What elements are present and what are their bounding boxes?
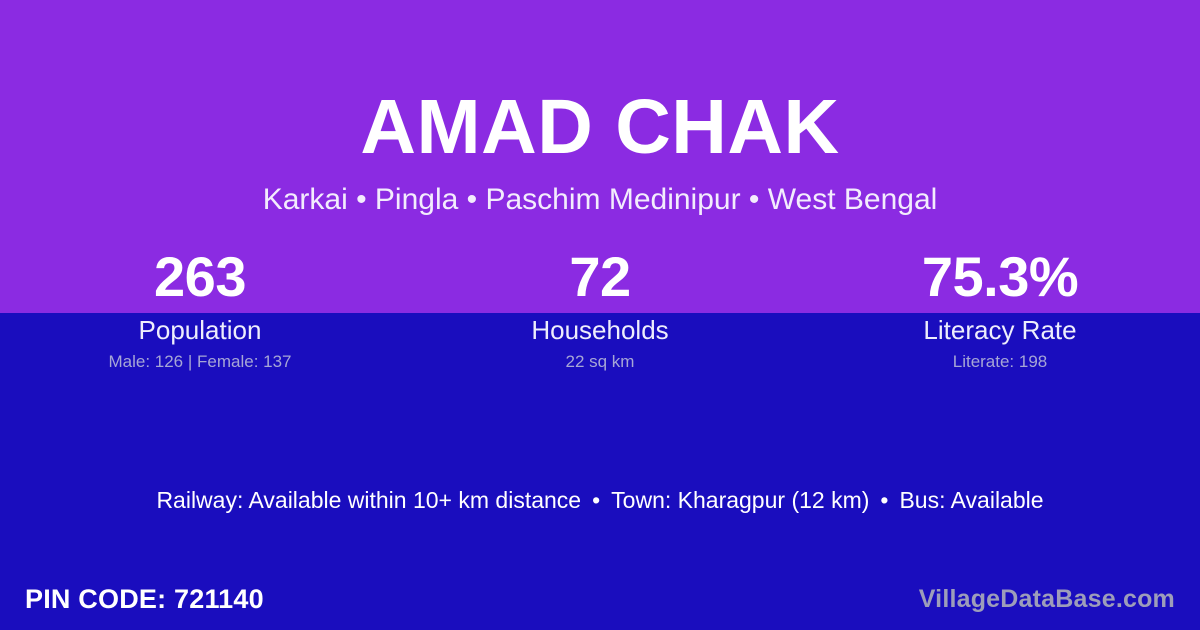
railway-info: Railway: Available within 10+ km distanc… xyxy=(156,487,581,513)
population-label: Population xyxy=(0,315,400,345)
village-info-card: AMAD CHAK Karkai • Pingla • Paschim Medi… xyxy=(0,0,1200,630)
population-breakdown: Male: 126 | Female: 137 xyxy=(0,352,400,372)
stat-population: 263 Population Male: 126 | Female: 137 xyxy=(0,244,400,372)
households-label: Households xyxy=(400,315,800,345)
breadcrumb: Karkai • Pingla • Paschim Medinipur • We… xyxy=(0,180,1200,220)
site-brand: VillageDataBase.com xyxy=(919,584,1175,614)
page-title: AMAD CHAK xyxy=(0,84,1200,170)
footer: PIN CODE: 721140 VillageDataBase.com xyxy=(0,568,1200,630)
amenities-separator-2: • xyxy=(869,485,899,515)
stat-literacy: 75.3% Literacy Rate Literate: 198 xyxy=(800,244,1200,372)
nearest-town-info: Town: Kharagpur (12 km) xyxy=(611,487,869,513)
literacy-rate-value: 75.3% xyxy=(800,244,1200,310)
literacy-rate-label: Literacy Rate xyxy=(800,315,1200,345)
amenities-summary: Railway: Available within 10+ km distanc… xyxy=(0,485,1200,515)
literate-count: Literate: 198 xyxy=(800,352,1200,372)
amenities-separator-1: • xyxy=(581,485,611,515)
stats-row: 263 Population Male: 126 | Female: 137 7… xyxy=(0,244,1200,372)
bus-info: Bus: Available xyxy=(899,487,1043,513)
area-value: 22 sq km xyxy=(400,352,800,372)
population-value: 263 xyxy=(0,244,400,310)
stat-households: 72 Households 22 sq km xyxy=(400,244,800,372)
households-value: 72 xyxy=(400,244,800,310)
pin-code: PIN CODE: 721140 xyxy=(25,583,264,615)
